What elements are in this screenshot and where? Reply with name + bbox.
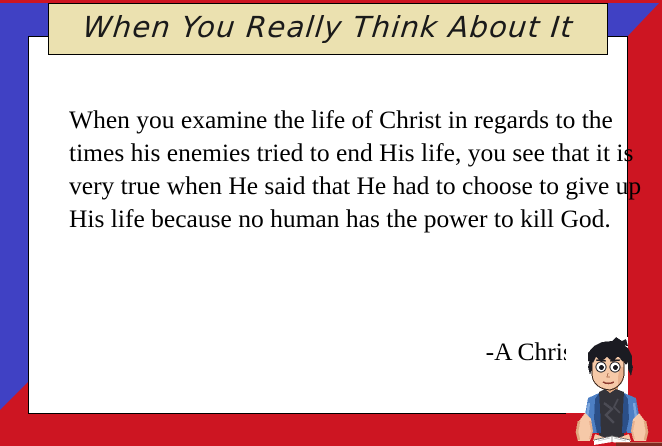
slide-canvas: When you examine the life of Christ in r…: [0, 0, 662, 446]
page-title: When You Really Think About It: [81, 13, 574, 45]
attribution-row: -A Christian: [69, 337, 611, 367]
body-paragraph: When you examine the life of Christ in r…: [69, 103, 651, 235]
student-reading-book-illustration: [566, 337, 662, 446]
content-card: When you examine the life of Christ in r…: [28, 36, 628, 414]
title-banner: When You Really Think About It: [48, 3, 608, 55]
body-text-block: When you examine the life of Christ in r…: [69, 103, 651, 235]
